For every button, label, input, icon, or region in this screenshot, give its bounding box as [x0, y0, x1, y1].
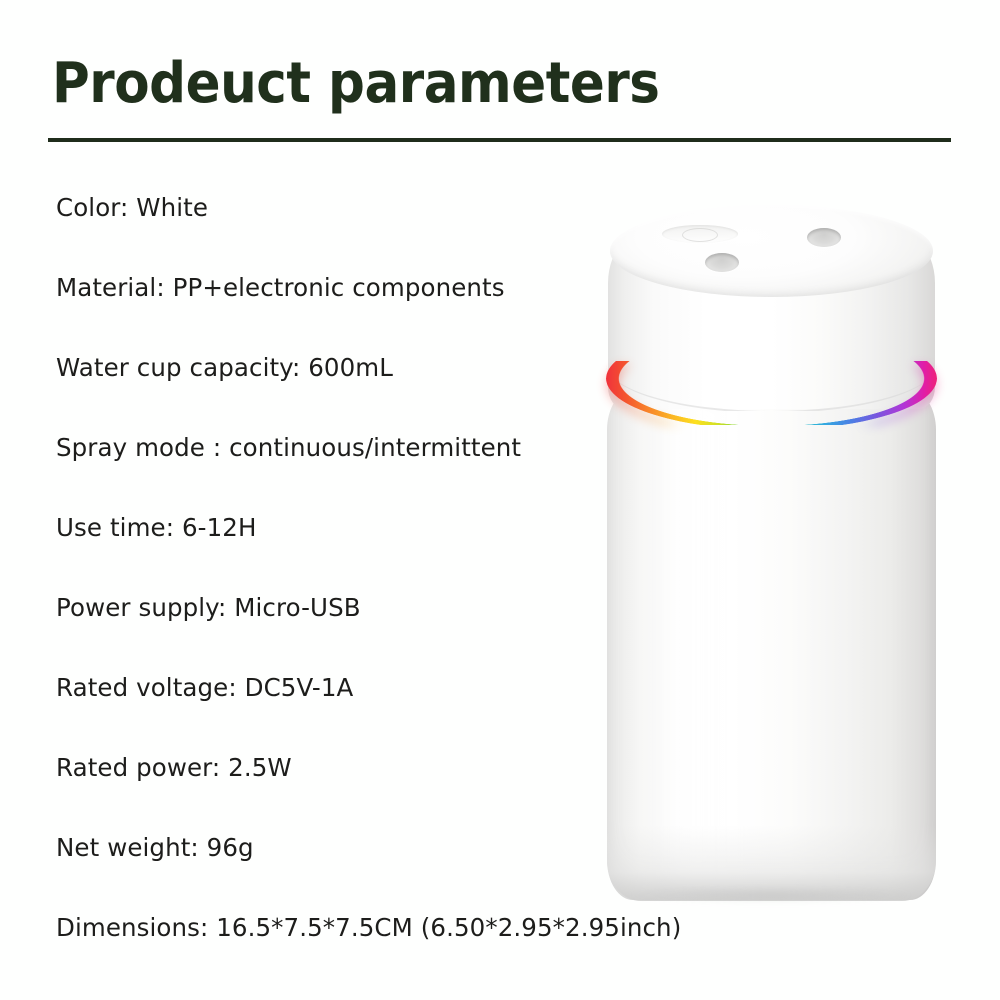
mist-outlet-hole-left-icon — [705, 253, 739, 272]
product-spec-page: Prodeuct parameters Color: White Materia… — [0, 0, 1000, 1000]
mist-outlet-hole-right-icon — [807, 228, 841, 247]
title-divider — [48, 138, 951, 142]
contact-shadow — [630, 887, 912, 903]
page-title: Prodeuct parameters — [52, 52, 660, 116]
product-photo-humidifier — [600, 205, 945, 905]
rgb-light-ring — [606, 361, 937, 425]
embossed-logo-outline-icon — [682, 228, 718, 242]
body-highlight — [654, 405, 750, 875]
humidifier-lid-rim — [610, 205, 933, 297]
